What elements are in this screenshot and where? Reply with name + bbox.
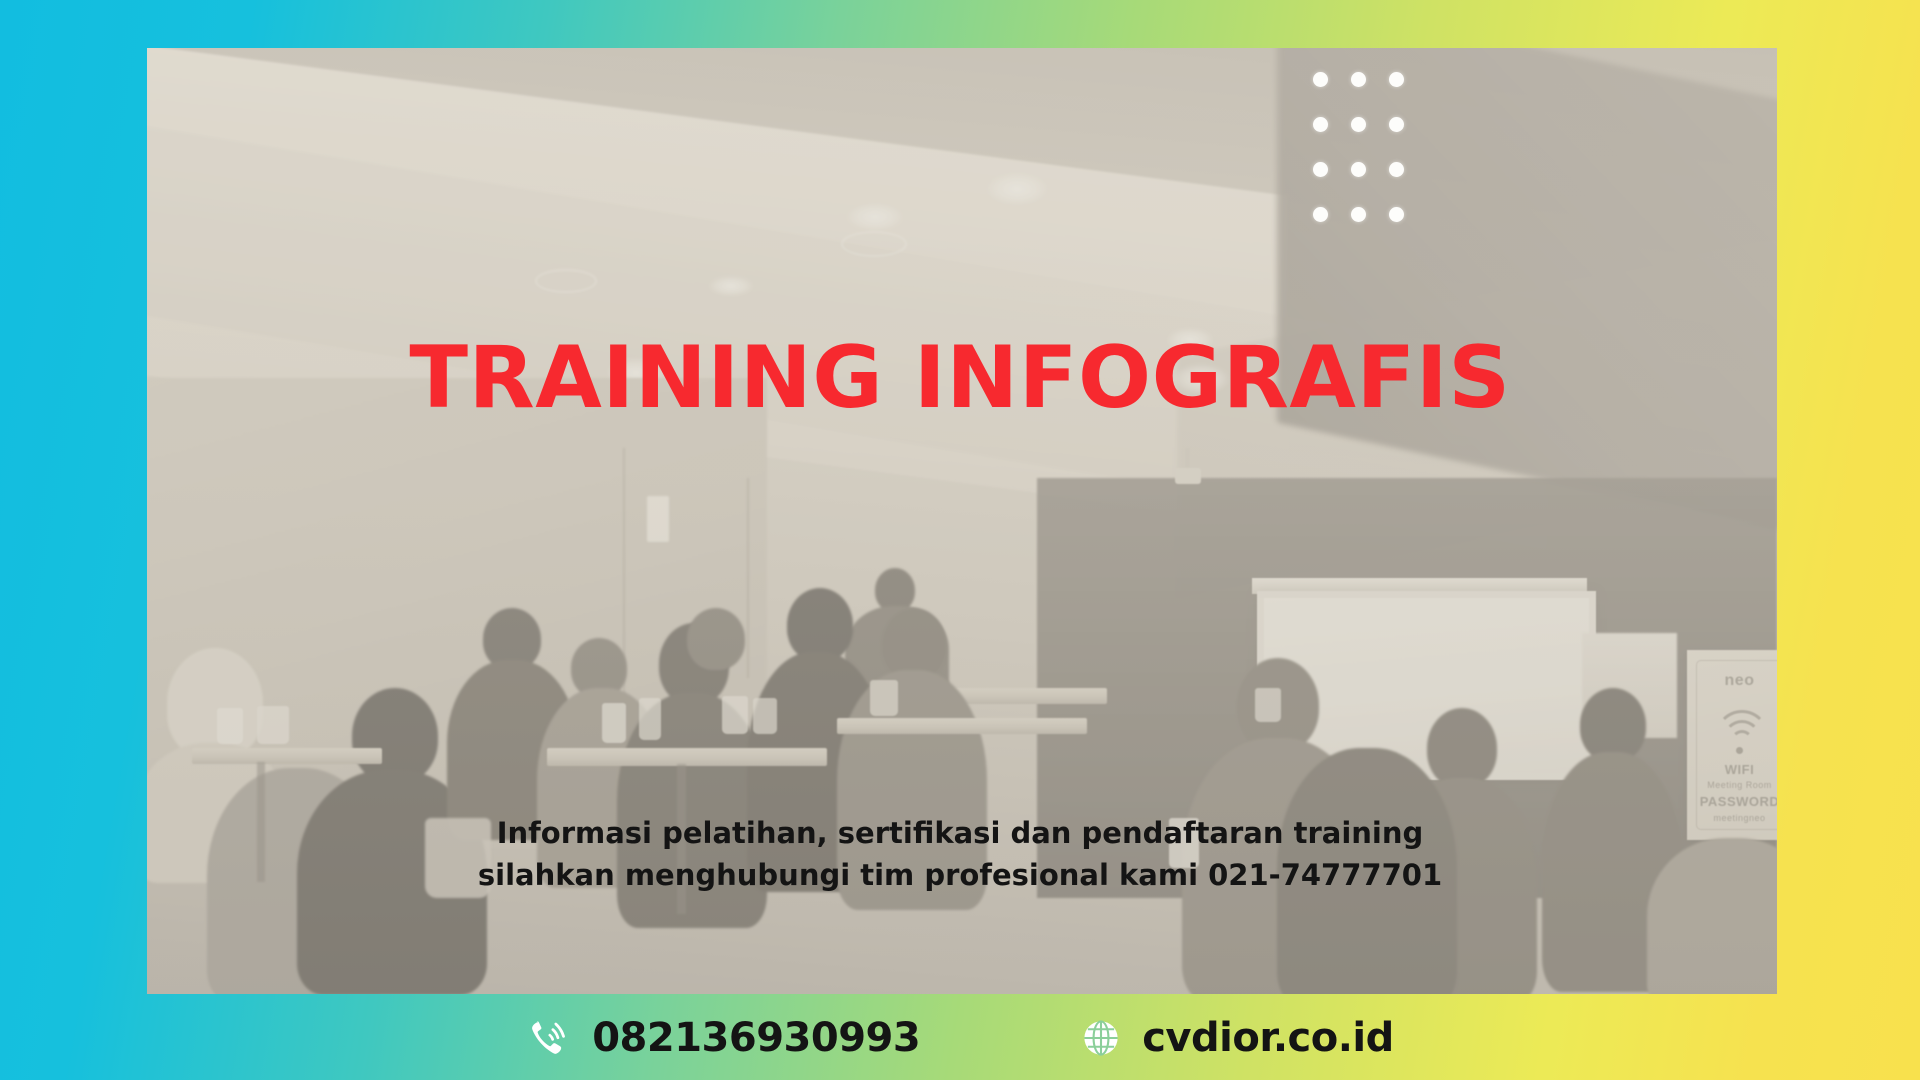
ceiling-light-ring [535, 269, 597, 293]
attendee [1647, 838, 1777, 994]
grid-dot [1389, 72, 1404, 87]
sign-brand: neo [1687, 672, 1777, 690]
grid-dot [1351, 162, 1366, 177]
grid-dot [1389, 162, 1404, 177]
sign-password-label: PASSWORD [1687, 794, 1777, 809]
website-url: cvdior.co.id [1142, 1015, 1394, 1061]
attendee-table [192, 748, 382, 764]
ceiling-downlight [987, 173, 1047, 205]
grid-dot [1313, 117, 1328, 132]
grid-dot [1313, 72, 1328, 87]
drink-cup [1255, 688, 1281, 722]
attendee-table [837, 718, 1087, 734]
poster-subtitle: Informasi pelatihan, sertifikasi dan pen… [455, 812, 1465, 896]
contact-footer: 082136930993 cvdior.co.id [0, 996, 1920, 1080]
drink-cup [602, 703, 626, 743]
phone-contact[interactable]: 082136930993 [526, 1015, 920, 1061]
attendee-head [167, 648, 263, 758]
sign-wifi-label: WIFI [1687, 762, 1777, 777]
grid-dot [1351, 207, 1366, 222]
grid-dot [1313, 207, 1328, 222]
grid-dot [1351, 72, 1366, 87]
decorative-dot-grid [1313, 72, 1427, 252]
grid-dot [1389, 207, 1404, 222]
wifi-info-sign: neo WIFI Meeting Room PASSWORD meetingne… [1687, 650, 1777, 840]
drink-cup [722, 696, 748, 734]
attendee-body [1647, 838, 1777, 994]
projector [1175, 468, 1201, 484]
wall-speaker-box [647, 496, 669, 542]
grid-dot [1389, 117, 1404, 132]
website-contact[interactable]: cvdior.co.id [1080, 1015, 1394, 1061]
drink-cup [753, 698, 777, 734]
drink-cup [217, 708, 243, 744]
sign-room-label: Meeting Room [1687, 780, 1777, 790]
drink-cup [870, 680, 898, 716]
poster-canvas: neo WIFI Meeting Room PASSWORD meetingne… [0, 0, 1920, 1080]
phone-number: 082136930993 [592, 1015, 920, 1061]
grid-dot [1351, 117, 1366, 132]
ceiling-light-ring [841, 231, 907, 257]
page-title: TRAINING INFOGRAFIS [0, 335, 1920, 421]
drink-cup [257, 706, 289, 744]
attendee-table [547, 748, 827, 766]
table-leg [257, 762, 265, 882]
grid-dot [1313, 162, 1328, 177]
attendee-head [687, 608, 745, 670]
attendee-head [1580, 688, 1646, 762]
ceiling-downlight [847, 203, 903, 231]
wifi-dot [1736, 747, 1743, 754]
phone-icon [526, 1015, 572, 1061]
globe-icon [1080, 1017, 1122, 1059]
sign-password-value: meetingneo [1687, 813, 1777, 823]
ceiling-downlight [709, 276, 753, 296]
drink-cup [639, 698, 661, 740]
